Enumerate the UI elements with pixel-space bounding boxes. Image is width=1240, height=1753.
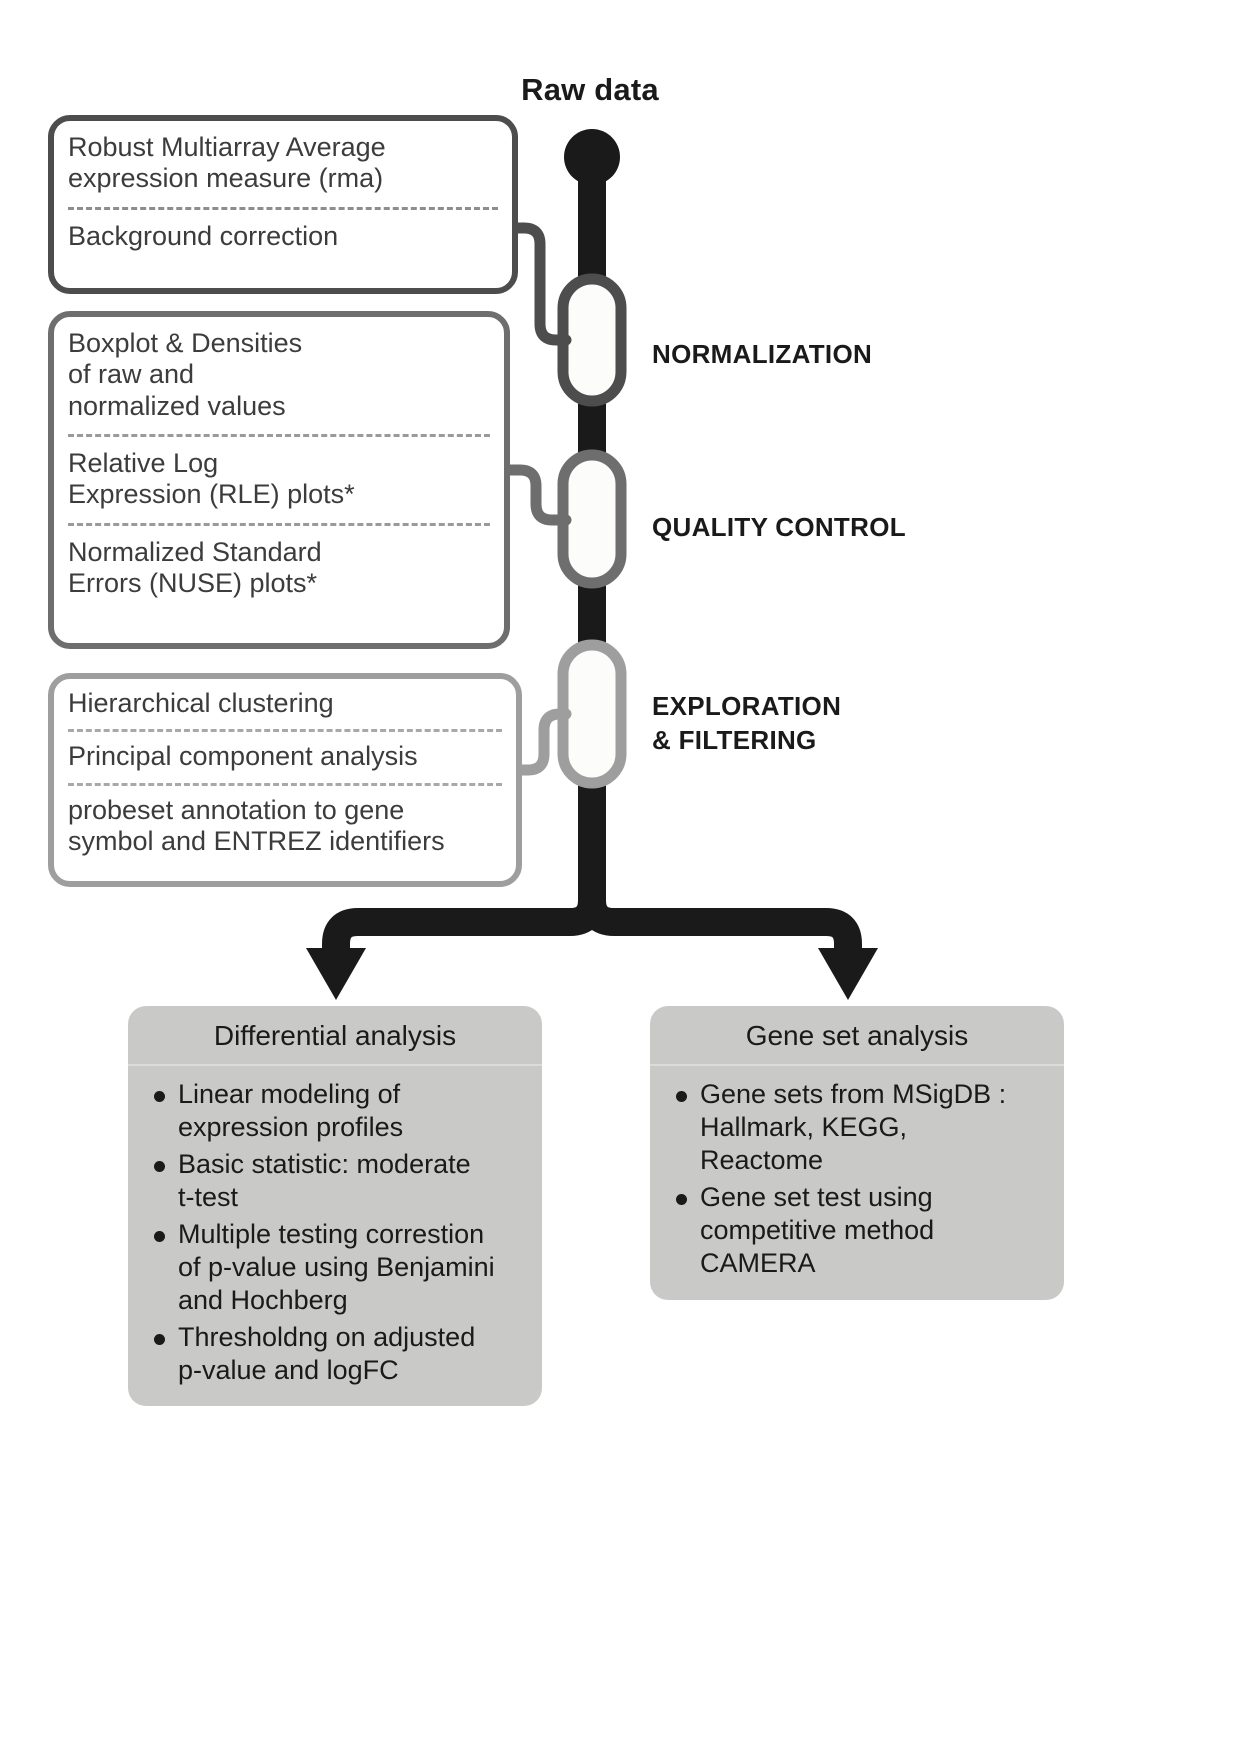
detail-row: Principal component analysis — [68, 729, 502, 782]
detail-row: Robust Multiarray Average expression mea… — [68, 121, 498, 207]
stage-label-normalization: NORMALIZATION — [652, 338, 872, 372]
connector-quality-control — [506, 470, 566, 520]
list-item: Basic statistic: moderate t-test — [148, 1148, 526, 1214]
detail-row: Normalized Standard Errors (NUSE) plots* — [68, 523, 490, 612]
arrow-head-right — [818, 948, 878, 1000]
panel-item-list: Linear modeling of expression profiles B… — [128, 1066, 542, 1408]
stage-label-exploration: EXPLORATION & FILTERING — [652, 690, 841, 758]
stage-label-quality-control: QUALITY CONTROL — [652, 511, 906, 545]
panel-title: Differential analysis — [128, 1006, 542, 1066]
list-item: Linear modeling of expression profiles — [148, 1078, 526, 1144]
detail-row: probeset annotation to gene symbol and E… — [68, 783, 502, 868]
detail-row: Hierarchical clustering — [68, 679, 502, 729]
panel-differential-analysis: Differential analysis Linear modeling of… — [128, 1006, 542, 1406]
list-item: Gene set test using competitive method C… — [670, 1181, 1048, 1280]
detail-row: Relative Log Expression (RLE) plots* — [68, 434, 490, 523]
stage-capsule-exploration — [563, 645, 621, 783]
stage-capsule-quality-control — [563, 455, 621, 583]
stage-capsule-normalization — [563, 279, 621, 401]
list-item: Multiple testing correstion of p-value u… — [148, 1218, 526, 1317]
branch-arrows — [336, 880, 848, 965]
detail-box-quality-control: Boxplot & Densities of raw and normalize… — [48, 311, 510, 649]
arrow-head-left — [306, 948, 366, 1000]
detail-box-exploration: Hierarchical clustering Principal compon… — [48, 673, 522, 887]
panel-gene-set-analysis: Gene set analysis Gene sets from MSigDB … — [650, 1006, 1064, 1300]
panel-item-list: Gene sets from MSigDB : Hallmark, KEGG, … — [650, 1066, 1064, 1302]
panel-title: Gene set analysis — [650, 1006, 1064, 1066]
list-item: Gene sets from MSigDB : Hallmark, KEGG, … — [670, 1078, 1048, 1177]
detail-box-normalization: Robust Multiarray Average expression mea… — [48, 115, 518, 294]
detail-row: Background correction — [68, 207, 498, 264]
list-item: Thresholdng on adjusted p-value and logF… — [148, 1321, 526, 1387]
detail-row: Boxplot & Densities of raw and normalize… — [68, 317, 490, 434]
